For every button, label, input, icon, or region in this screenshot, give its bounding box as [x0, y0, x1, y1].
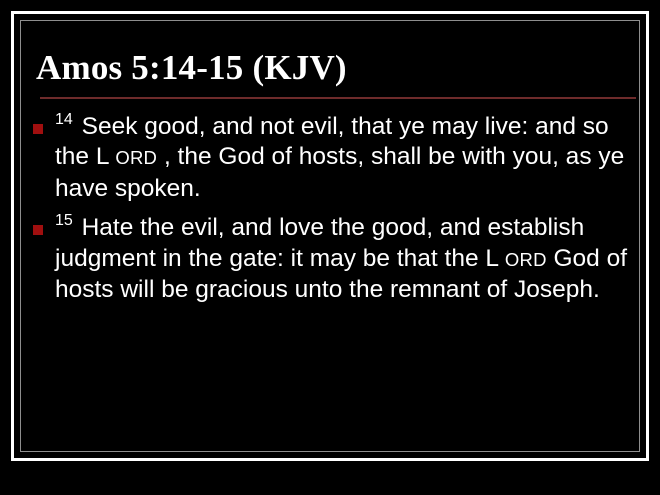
- verse-text: 15 Hate the evil, and love the good, and…: [55, 213, 632, 306]
- title-divider: [40, 97, 636, 99]
- square-bullet-icon: [33, 124, 43, 134]
- page-title: Amos 5:14-15 (KJV): [36, 50, 626, 87]
- divine-name-lead: L: [96, 143, 109, 170]
- divine-name-smallcaps: ORD: [505, 249, 547, 270]
- list-item: 14 Seek good, and not evil, that ye may …: [33, 112, 632, 205]
- list-item: 15 Hate the evil, and love the good, and…: [33, 213, 632, 306]
- verse-number: 14: [55, 111, 75, 128]
- slide-content: Amos 5:14-15 (KJV) 14 Seek good, and not…: [28, 28, 632, 444]
- verse-list: 14 Seek good, and not evil, that ye may …: [28, 112, 632, 306]
- verse-text: 14 Seek good, and not evil, that ye may …: [55, 112, 632, 205]
- title-block: Amos 5:14-15 (KJV): [28, 28, 632, 99]
- divine-name-smallcaps: ORD: [115, 147, 157, 168]
- verse-number: 15: [55, 212, 75, 229]
- square-bullet-icon: [33, 225, 43, 235]
- slide: Amos 5:14-15 (KJV) 14 Seek good, and not…: [0, 0, 660, 495]
- divine-name-lead: L: [485, 245, 498, 272]
